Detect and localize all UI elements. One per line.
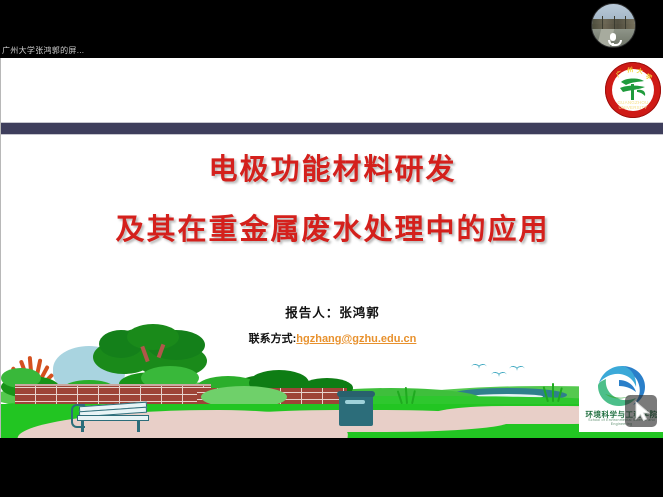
slide-canvas[interactable]: 广 州 大 学 GUANGZHOU UNIVERSITY 电极功能材料研发 及其… [0,58,663,438]
trash-bin-highlight [345,400,365,404]
top-letterbox-bar: 广州大学张鸿郭的屏... [0,0,663,58]
bird-icon [471,364,487,372]
park-bench [71,402,147,432]
grass-tuft [552,383,554,402]
webcam-share-label: 广州大学张鸿郭的屏... [2,45,94,56]
uni-logo-char: 州 [626,65,633,75]
bird-icon [491,372,507,380]
header-divider-bar [1,122,663,135]
bottom-letterbox-bar [0,438,663,497]
presentation-screen: 广州大学张鸿郭的屏... 广 州 大 学 GUANGZHOU UNIVERSIT… [0,0,663,497]
trash-bin [339,394,373,426]
microphone-icon[interactable] [607,33,619,46]
cursor-arrow-icon[interactable] [625,395,657,427]
park-scene-illustration [1,328,663,438]
guangzhou-university-logo: 广 州 大 学 GUANGZHOU UNIVERSITY [605,62,661,118]
slide-title-line-2: 及其在重金属废水处理中的应用 [1,206,663,248]
uni-logo-emblem [617,76,649,102]
trash-bin-lid [337,391,375,397]
uni-logo-en-text: GUANGZHOU UNIVERSITY [605,100,661,110]
webcam-bubble[interactable] [591,3,636,46]
presenter-name: 报告人：张鸿郭 [1,302,663,321]
slide-title-line-1: 电极功能材料研发 [1,146,663,188]
bird-icon [509,366,525,374]
